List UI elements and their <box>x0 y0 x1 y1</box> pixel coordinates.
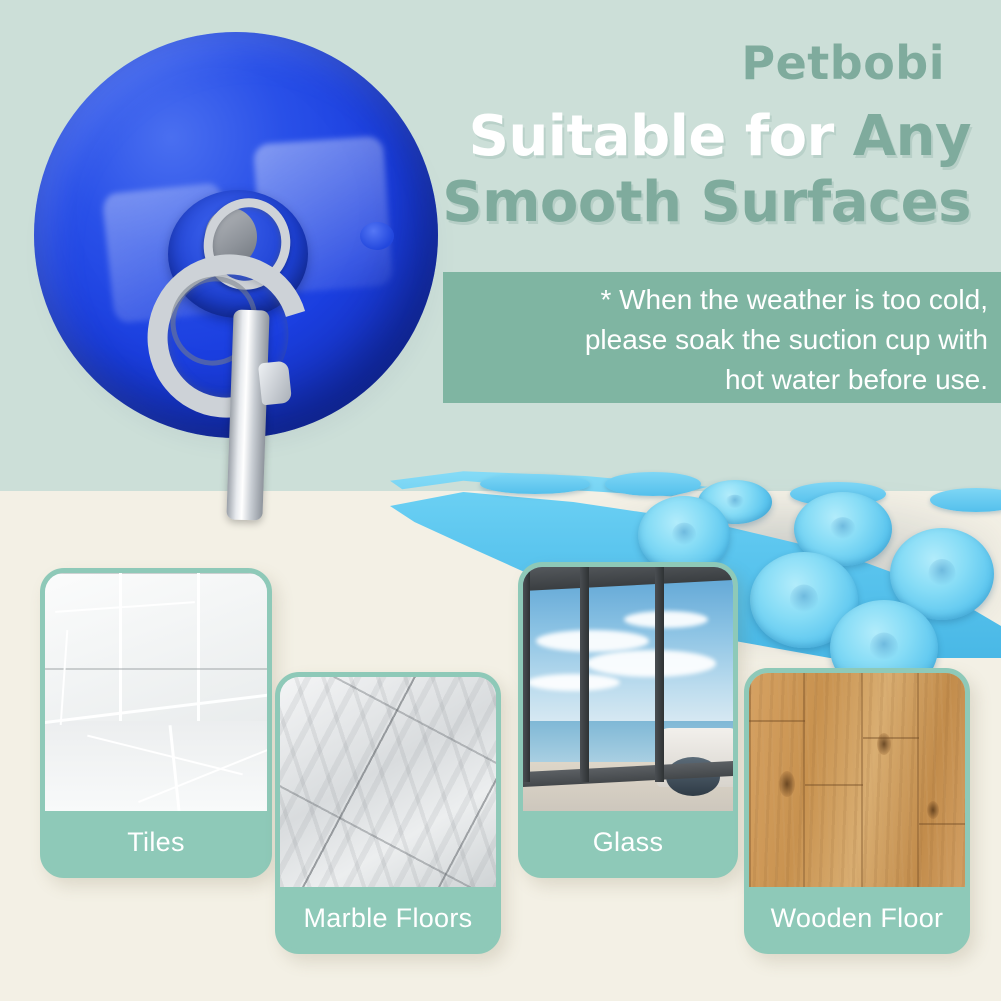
glass-image <box>523 567 733 811</box>
card-caption-wood: Wooden Floor <box>749 887 965 949</box>
note-line-2: please soak the suction cup with <box>460 320 988 360</box>
door-jamb <box>523 567 530 782</box>
snap-hook-latch <box>258 361 292 406</box>
note-text: * When the weather is too cold, please s… <box>460 280 1001 399</box>
headline-line-1: Suitable for Any <box>351 104 971 170</box>
surface-card-marble[interactable]: Marble Floors <box>275 672 501 954</box>
marble-image <box>280 677 496 887</box>
brand-logo-text: Petbobi <box>741 36 945 90</box>
hero-suction-cup-image <box>8 10 468 510</box>
tile-floor <box>45 721 267 811</box>
tiles-scene <box>45 573 267 811</box>
door-mullion <box>580 567 589 782</box>
mat-suction-cup <box>480 474 590 494</box>
brand-logo: Petbobi <box>741 36 945 90</box>
card-caption-marble: Marble Floors <box>280 887 496 949</box>
snap-hook-shaft <box>226 309 269 520</box>
surface-card-tiles[interactable]: Tiles <box>40 568 272 878</box>
glass-scene <box>523 567 733 811</box>
surface-card-glass[interactable]: Glass <box>518 562 738 878</box>
headline: Suitable for Any Smooth Surfaces <box>351 104 971 236</box>
note-line-1: * When the weather is too cold, <box>460 280 988 320</box>
door-mullion <box>655 567 664 782</box>
tiles-image <box>45 573 267 811</box>
wood-image <box>749 673 965 887</box>
headline-any: Any <box>853 104 971 169</box>
card-caption-tiles: Tiles <box>45 811 267 873</box>
headline-suitable-for: Suitable for <box>469 104 834 169</box>
headline-line-2: Smooth Surfaces <box>351 170 971 236</box>
card-caption-glass: Glass <box>523 811 733 873</box>
surface-card-wood[interactable]: Wooden Floor <box>744 668 970 954</box>
marble-scene <box>280 677 496 887</box>
poster-canvas: Petbobi Suitable for Any Smooth Surfaces… <box>0 0 1001 1001</box>
note-line-3: hot water before use. <box>460 360 988 400</box>
mat-suction-cup <box>605 472 701 496</box>
